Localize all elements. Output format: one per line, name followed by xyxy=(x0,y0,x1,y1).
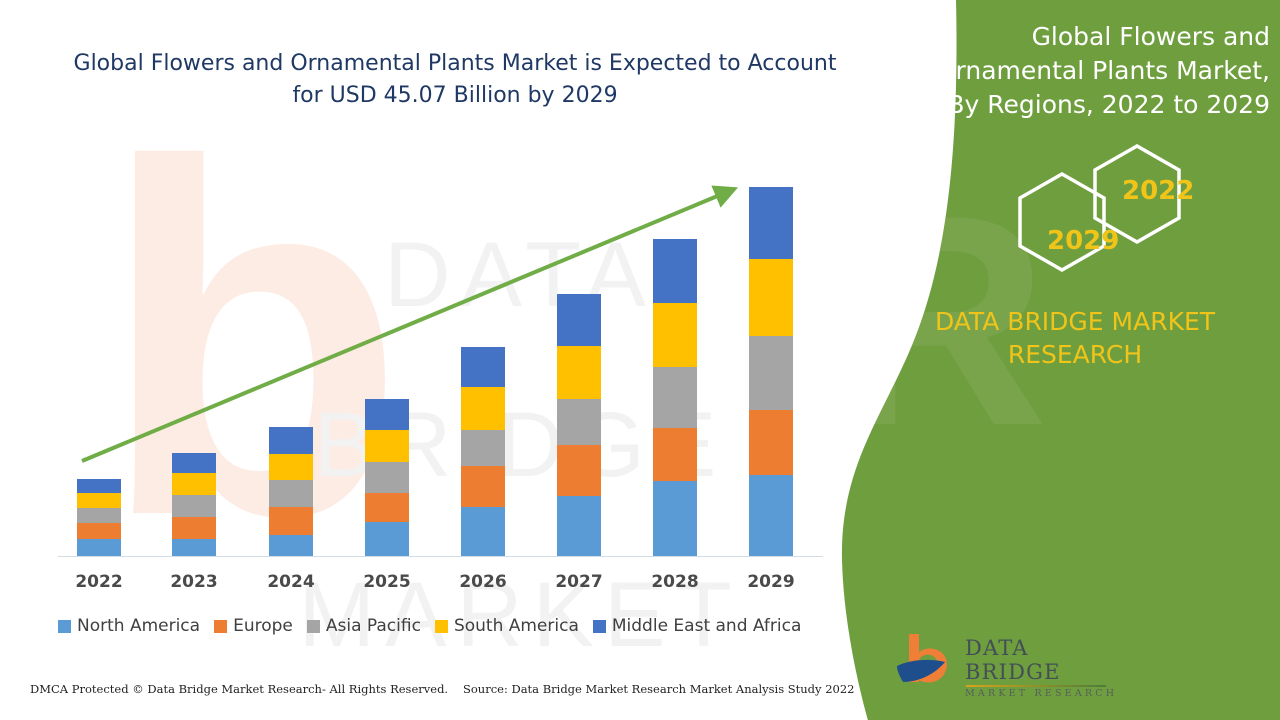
bar-segment-middle-east-and-africa xyxy=(653,239,697,303)
bar-stack xyxy=(653,239,697,556)
legend-label: Europe xyxy=(233,616,293,636)
legend-label: North America xyxy=(77,616,200,636)
hexagon-label-2022: 2022 xyxy=(1122,176,1194,206)
bar-segment-middle-east-and-africa xyxy=(172,453,216,473)
bar-column-2029[interactable] xyxy=(749,0,793,556)
bar-segment-south-america xyxy=(461,387,505,430)
bar-segment-north-america xyxy=(653,481,697,556)
bar-stack xyxy=(269,427,313,556)
bar-segment-north-america xyxy=(557,496,601,556)
bar-segment-north-america xyxy=(269,535,313,556)
legend-swatch-icon xyxy=(593,620,606,633)
hexagon-label-2029: 2029 xyxy=(1047,226,1119,256)
bar-segment-north-america xyxy=(365,522,409,556)
bar-column-2028[interactable] xyxy=(653,0,697,556)
bar-stack xyxy=(557,294,601,556)
bar-segment-europe xyxy=(461,466,505,507)
bar-segment-asia-pacific xyxy=(365,462,409,493)
bar-segment-south-america xyxy=(77,493,121,508)
hexagon-group: 2022 2029 xyxy=(950,140,1250,310)
bar-segment-asia-pacific xyxy=(172,495,216,517)
x-tick-2025: 2025 xyxy=(347,572,427,592)
bar-stack xyxy=(749,187,793,556)
legend-item-north-america[interactable]: North America xyxy=(58,616,200,636)
bar-segment-north-america xyxy=(461,507,505,556)
x-tick-2024: 2024 xyxy=(251,572,331,592)
bar-segment-middle-east-and-africa xyxy=(365,399,409,430)
x-tick-2026: 2026 xyxy=(443,572,523,592)
stacked-bar-chart: 20222023202420252026202720282029 North A… xyxy=(0,0,860,600)
legend-item-south-america[interactable]: South America xyxy=(435,616,579,636)
bar-stack xyxy=(77,479,121,556)
bar-segment-south-america xyxy=(365,430,409,462)
x-tick-2022: 2022 xyxy=(59,572,139,592)
footer: DMCA Protected © Data Bridge Market Rese… xyxy=(0,682,860,704)
legend-swatch-icon xyxy=(435,620,448,633)
chart-legend: North AmericaEuropeAsia PacificSouth Ame… xyxy=(58,616,801,636)
footer-source: Source: Data Bridge Market Research Mark… xyxy=(463,682,854,696)
logo-text: DATA BRIDGE MARKET RESEARCH xyxy=(965,636,1125,699)
growth-arrow-icon xyxy=(0,0,860,556)
legend-label: South America xyxy=(454,616,579,636)
bar-segment-south-america xyxy=(749,259,793,336)
bar-segment-middle-east-and-africa xyxy=(749,187,793,259)
bar-segment-asia-pacific xyxy=(557,399,601,445)
legend-label: Middle East and Africa xyxy=(612,616,802,636)
bar-column-2027[interactable] xyxy=(557,0,601,556)
bar-segment-north-america xyxy=(749,475,793,556)
bar-segment-south-america xyxy=(172,473,216,495)
x-tick-2029: 2029 xyxy=(731,572,811,592)
hexagon-outline-icon xyxy=(950,140,1250,310)
bar-segment-middle-east-and-africa xyxy=(557,294,601,346)
logo-main-text: DATA BRIDGE xyxy=(965,636,1125,684)
bar-segment-europe xyxy=(557,445,601,496)
bar-column-2024[interactable] xyxy=(269,0,313,556)
bar-segment-north-america xyxy=(77,539,121,556)
bar-segment-asia-pacific xyxy=(269,480,313,507)
x-tick-2028: 2028 xyxy=(635,572,715,592)
bar-column-2023[interactable] xyxy=(172,0,216,556)
bar-segment-europe xyxy=(269,507,313,535)
bar-segment-middle-east-and-africa xyxy=(77,479,121,493)
bar-column-2026[interactable] xyxy=(461,0,505,556)
chart-plot-area xyxy=(0,0,860,556)
legend-swatch-icon xyxy=(58,620,71,633)
bar-segment-europe xyxy=(77,523,121,539)
bar-stack xyxy=(461,347,505,556)
bar-segment-middle-east-and-africa xyxy=(269,427,313,454)
x-axis-line xyxy=(58,556,823,557)
legend-swatch-icon xyxy=(214,620,227,633)
bar-segment-asia-pacific xyxy=(77,508,121,523)
panel-brand-name: DATA BRIDGE MARKET RESEARCH xyxy=(875,305,1275,371)
bar-segment-europe xyxy=(365,493,409,522)
bar-segment-asia-pacific xyxy=(461,430,505,466)
bar-segment-middle-east-and-africa xyxy=(461,347,505,387)
legend-item-asia-pacific[interactable]: Asia Pacific xyxy=(307,616,421,636)
x-tick-2027: 2027 xyxy=(539,572,619,592)
data-bridge-logo: DATA BRIDGE MARKET RESEARCH xyxy=(895,630,1125,690)
panel-title: Global Flowers and Ornamental Plants Mar… xyxy=(910,20,1270,122)
bar-segment-asia-pacific xyxy=(653,367,697,428)
bar-segment-south-america xyxy=(269,454,313,480)
bar-segment-europe xyxy=(749,410,793,475)
x-tick-2023: 2023 xyxy=(154,572,234,592)
bar-column-2025[interactable] xyxy=(365,0,409,556)
legend-swatch-icon xyxy=(307,620,320,633)
infographic-root: b DATA BRIDGE MARKET RESEARCH Global Flo… xyxy=(0,0,1280,720)
bar-segment-north-america xyxy=(172,539,216,556)
bar-segment-south-america xyxy=(653,303,697,367)
logo-sub-text: MARKET RESEARCH xyxy=(965,688,1125,699)
legend-label: Asia Pacific xyxy=(326,616,421,636)
bar-stack xyxy=(172,453,216,556)
bar-stack xyxy=(365,399,409,556)
bar-segment-asia-pacific xyxy=(749,336,793,410)
legend-item-europe[interactable]: Europe xyxy=(214,616,293,636)
footer-copyright: DMCA Protected © Data Bridge Market Rese… xyxy=(30,682,448,696)
bar-segment-europe xyxy=(172,517,216,539)
legend-item-middle-east-and-africa[interactable]: Middle East and Africa xyxy=(593,616,802,636)
logo-mark-icon xyxy=(895,630,965,688)
bar-segment-south-america xyxy=(557,346,601,399)
logo-divider xyxy=(966,685,1106,687)
bar-column-2022[interactable] xyxy=(77,0,121,556)
bar-segment-europe xyxy=(653,428,697,481)
green-side-panel: R Global Flowers and Ornamental Plants M… xyxy=(840,0,1280,720)
